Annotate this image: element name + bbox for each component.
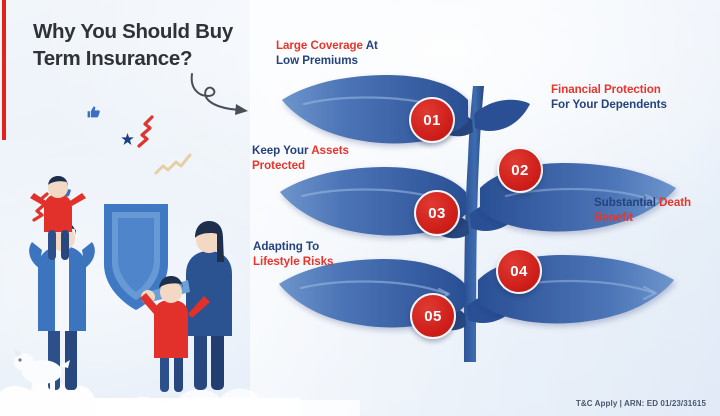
step-badge-03[interactable]: 03: [414, 190, 460, 236]
family-illustration: [8, 176, 254, 396]
zigzag-red-icon: [130, 115, 160, 149]
benefit-label-05: Adapting To Lifestyle Risks: [253, 239, 333, 270]
benefit-label-05-red: Lifestyle Risks: [253, 255, 333, 268]
benefit-label-02-red: Financial Protection: [551, 83, 661, 96]
benefit-label-05-navy: Adapting To: [253, 240, 319, 253]
benefit-label-03: Keep Your Assets Protected: [252, 143, 349, 174]
step-badge-01[interactable]: 01: [409, 97, 455, 143]
benefit-label-04-red2: Benefit: [594, 211, 633, 224]
step-badge-05[interactable]: 05: [410, 293, 456, 339]
benefit-label-03-navy: Keep Your: [252, 144, 308, 157]
step-badge-04[interactable]: 04: [496, 248, 542, 294]
accent-stripe: [2, 0, 6, 140]
page-title: Why You Should Buy Term Insurance?: [33, 18, 258, 72]
benefit-label-04: Substantial Death Benefit: [594, 195, 691, 226]
benefit-label-01-navy: At: [366, 39, 378, 52]
infographic-canvas: Why You Should Buy Term Insurance?: [0, 0, 720, 416]
benefit-label-01-navy2: Low Premiums: [276, 54, 358, 67]
benefit-label-01-red: Large Coverage: [276, 39, 363, 52]
benefit-label-04-red: Death: [659, 196, 691, 209]
step-badge-02[interactable]: 02: [497, 147, 543, 193]
thumbs-up-icon: [86, 104, 102, 120]
page-title-line2: Term Insurance?: [33, 45, 258, 72]
disclaimer-text: T&C Apply | ARN: ED 01/23/31615: [576, 399, 706, 408]
benefit-label-02: Financial Protection For Your Dependents: [551, 82, 667, 113]
benefit-label-03-red: Assets: [311, 144, 349, 157]
benefit-label-03-red2: Protected: [252, 159, 305, 172]
zigzag-tan-icon: [154, 150, 196, 176]
benefit-label-04-navy: Substantial: [594, 196, 656, 209]
benefit-label-02-navy: For Your Dependents: [551, 98, 667, 111]
benefit-label-01: Large Coverage At Low Premiums: [276, 38, 378, 69]
page-title-line1: Why You Should Buy: [33, 18, 258, 45]
curved-arrow-icon: [186, 70, 264, 118]
